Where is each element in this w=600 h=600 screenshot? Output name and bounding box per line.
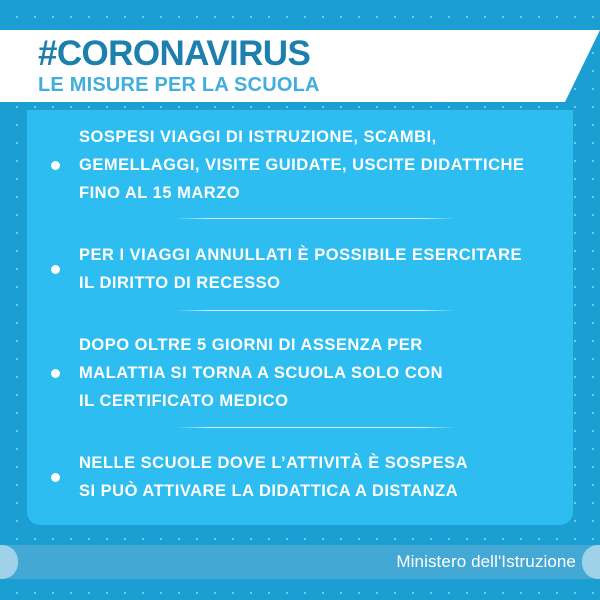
measure-text-4: NELLE SCUOLE DOVE L’ATTIVITÀ È SOSPESA S…	[79, 449, 573, 505]
footer-cap-right-shape	[582, 545, 600, 579]
poster-root: #CORONAVIRUS LE MISURE PER LA SCUOLA SOS…	[0, 0, 600, 600]
page-title: #CORONAVIRUS	[38, 36, 320, 72]
footer-band: Ministero dell'Istruzione	[0, 545, 600, 579]
measure-line: PER I VIAGGI ANNULLATI È POSSIBILE ESERC…	[79, 241, 573, 269]
bullet-dot-icon	[51, 369, 60, 378]
measures-panel: SOSPESI VIAGGI DI ISTRUZIONE, SCAMBI, GE…	[27, 110, 573, 525]
measure-line: IL DIRITTO DI RECESSO	[79, 269, 573, 297]
measure-line: NELLE SCUOLE DOVE L’ATTIVITÀ È SOSPESA	[79, 449, 573, 477]
bullet-dot-icon	[51, 473, 60, 482]
measure-line: SI PUÒ ATTIVARE LA DIDATTICA A DISTANZA	[79, 477, 573, 505]
measure-line: IL CERTIFICATO MEDICO	[79, 387, 573, 415]
ministry-label: Ministero dell'Istruzione	[396, 552, 576, 572]
measure-item-3: DOPO OLTRE 5 GIORNI DI ASSENZA PER MALAT…	[27, 328, 573, 418]
measure-text-3: DOPO OLTRE 5 GIORNI DI ASSENZA PER MALAT…	[79, 331, 573, 415]
measure-line: FINO AL 15 MARZO	[79, 179, 573, 207]
measure-line: GEMELLAGGI, VISITE GUIDATE, USCITE DIDAT…	[79, 151, 573, 179]
bullet-dot-icon	[51, 161, 60, 170]
header-text-group: #CORONAVIRUS LE MISURE PER LA SCUOLA	[38, 30, 320, 102]
bullet-dot-icon	[51, 265, 60, 274]
divider-1	[177, 218, 454, 219]
measure-line: MALATTIA SI TORNA A SCUOLA SOLO CON	[79, 359, 573, 387]
measure-item-1: SOSPESI VIAGGI DI ISTRUZIONE, SCAMBI, GE…	[27, 120, 573, 210]
divider-2	[177, 310, 454, 311]
measure-item-2: PER I VIAGGI ANNULLATI È POSSIBILE ESERC…	[27, 238, 573, 300]
measure-line: SOSPESI VIAGGI DI ISTRUZIONE, SCAMBI,	[79, 123, 573, 151]
header-banner: #CORONAVIRUS LE MISURE PER LA SCUOLA	[0, 30, 600, 102]
measure-line: DOPO OLTRE 5 GIORNI DI ASSENZA PER	[79, 331, 573, 359]
measure-text-2: PER I VIAGGI ANNULLATI È POSSIBILE ESERC…	[79, 241, 573, 297]
divider-3	[177, 427, 454, 428]
footer-cap-left-shape	[0, 545, 18, 579]
page-subtitle: LE MISURE PER LA SCUOLA	[38, 75, 320, 96]
measure-item-4: NELLE SCUOLE DOVE L’ATTIVITÀ È SOSPESA S…	[27, 446, 573, 508]
measure-text-1: SOSPESI VIAGGI DI ISTRUZIONE, SCAMBI, GE…	[79, 123, 573, 207]
